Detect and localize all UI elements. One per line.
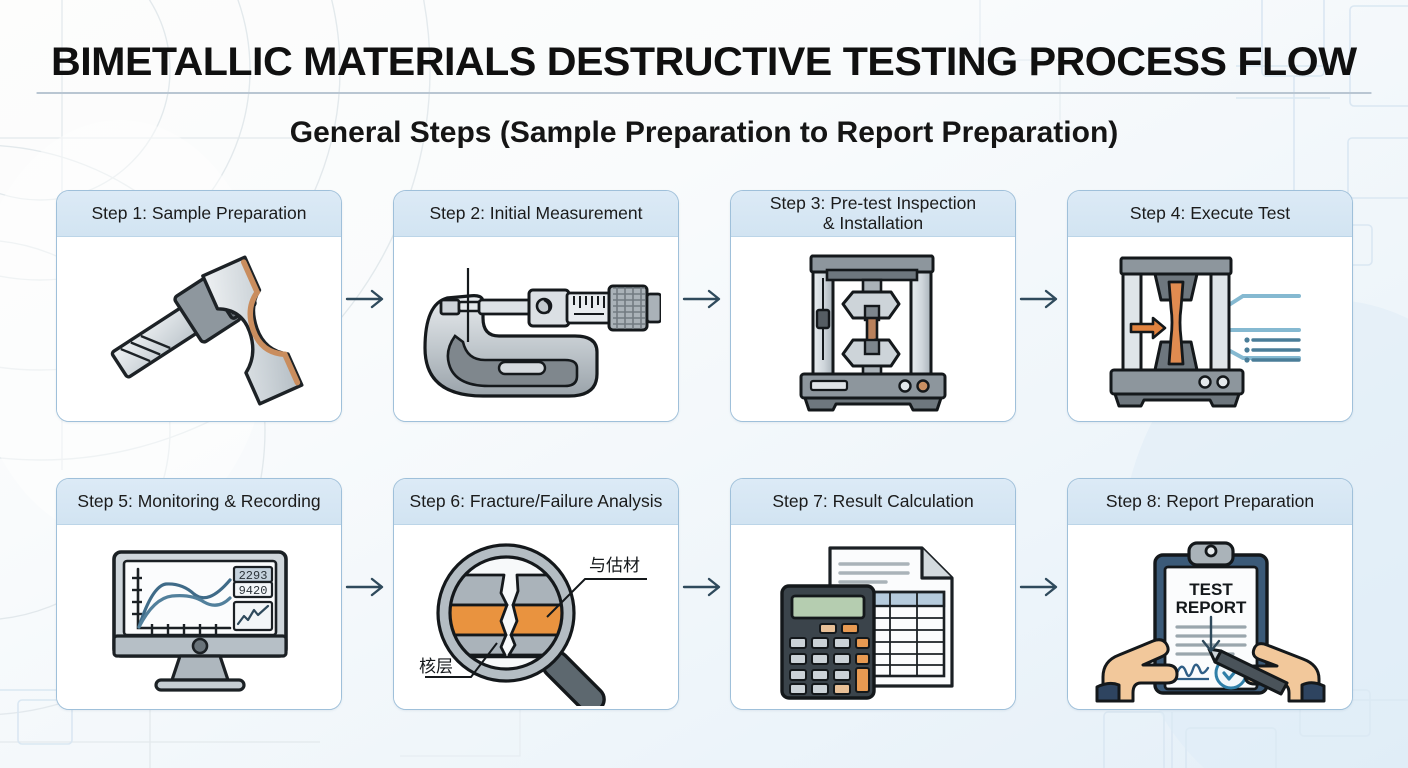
step-2-illustration: [394, 237, 678, 422]
tensile-test-execution-icon: [1103, 248, 1318, 413]
title-block: BIMETALLIC MATERIALS DESTRUCTIVE TESTING…: [0, 40, 1408, 150]
arrow-step6-to-step7: [682, 575, 728, 599]
step-7-header: Step 7: Result Calculation: [731, 479, 1015, 525]
step-card-4[interactable]: Step 4: Execute Test: [1067, 190, 1353, 422]
step-card-2[interactable]: Step 2: Initial Measurement: [393, 190, 679, 422]
monitor-recording-icon: 2293 9420: [92, 536, 307, 701]
report-title-line-1: TEST: [1189, 580, 1233, 599]
step-7-title: Step 7: Result Calculation: [772, 492, 973, 512]
step-3-header: Step 3: Pre-test Inspection & Installati…: [731, 191, 1015, 237]
step-4-title: Step 4: Execute Test: [1130, 204, 1290, 224]
step-2-header: Step 2: Initial Measurement: [394, 191, 678, 237]
step-card-7[interactable]: Step 7: Result Calculation: [730, 478, 1016, 710]
step-6-header: Step 6: Fracture/Failure Analysis: [394, 479, 678, 525]
calculator-spreadsheet-icon: [776, 536, 971, 701]
step-5-header: Step 5: Monitoring & Recording: [57, 479, 341, 525]
arrow-step7-to-step8: [1019, 575, 1065, 599]
step-5-title: Step 5: Monitoring & Recording: [77, 492, 320, 512]
arrow-step3-to-step4: [1019, 287, 1065, 311]
flow-row-bottom: Step 5: Monitoring & Recording: [0, 478, 1408, 718]
step-card-8[interactable]: Step 8: Report Preparation TEST REPORT: [1067, 478, 1353, 710]
step-card-1[interactable]: Step 1: Sample Preparation: [56, 190, 342, 422]
flow-row-top: Step 1: Sample Preparation: [0, 190, 1408, 430]
step-7-illustration: [731, 525, 1015, 710]
arrow-step2-to-step3: [682, 287, 728, 311]
step-1-title: Step 1: Sample Preparation: [92, 204, 307, 224]
arrow-step4-to-step5: [1196, 615, 1226, 659]
bimetallic-specimens-icon: [79, 245, 319, 415]
step-card-5[interactable]: Step 5: Monitoring & Recording: [56, 478, 342, 710]
fracture-label-top: 与估材: [589, 556, 640, 576]
step-2-title: Step 2: Initial Measurement: [429, 204, 642, 224]
fracture-label-bottom: 核层: [419, 657, 453, 677]
micrometer-icon: [411, 250, 661, 410]
page-subtitle: General Steps (Sample Preparation to Rep…: [0, 116, 1408, 150]
step-3-title: Step 3: Pre-test Inspection & Installati…: [770, 194, 976, 233]
step-card-3[interactable]: Step 3: Pre-test Inspection & Installati…: [730, 190, 1016, 422]
universal-testing-machine-icon: [793, 248, 953, 413]
step-4-header: Step 4: Execute Test: [1068, 191, 1352, 237]
page-title: BIMETALLIC MATERIALS DESTRUCTIVE TESTING…: [37, 40, 1371, 94]
step-4-illustration: [1068, 237, 1352, 422]
step-1-header: Step 1: Sample Preparation: [57, 191, 341, 237]
step-card-6[interactable]: Step 6: Fracture/Failure Analysis: [393, 478, 679, 710]
process-flow-grid: Step 1: Sample Preparation: [0, 190, 1408, 718]
monitor-readout-2: 9420: [238, 584, 267, 598]
step-6-illustration: 与估材 核层: [394, 525, 678, 710]
step-8-header: Step 8: Report Preparation: [1068, 479, 1352, 525]
step-3-title-line-2: & Installation: [823, 213, 923, 233]
step-3-illustration: [731, 237, 1015, 422]
step-1-illustration: [57, 237, 341, 422]
step-3-title-line-1: Step 3: Pre-test Inspection: [770, 193, 976, 213]
step-8-title: Step 8: Report Preparation: [1106, 492, 1314, 512]
step-5-illustration: 2293 9420: [57, 525, 341, 710]
fracture-analysis-icon: 与估材 核层: [401, 531, 671, 706]
arrow-step1-to-step2: [345, 287, 391, 311]
step-6-title: Step 6: Fracture/Failure Analysis: [410, 492, 663, 512]
arrow-step5-to-step6: [345, 575, 391, 599]
